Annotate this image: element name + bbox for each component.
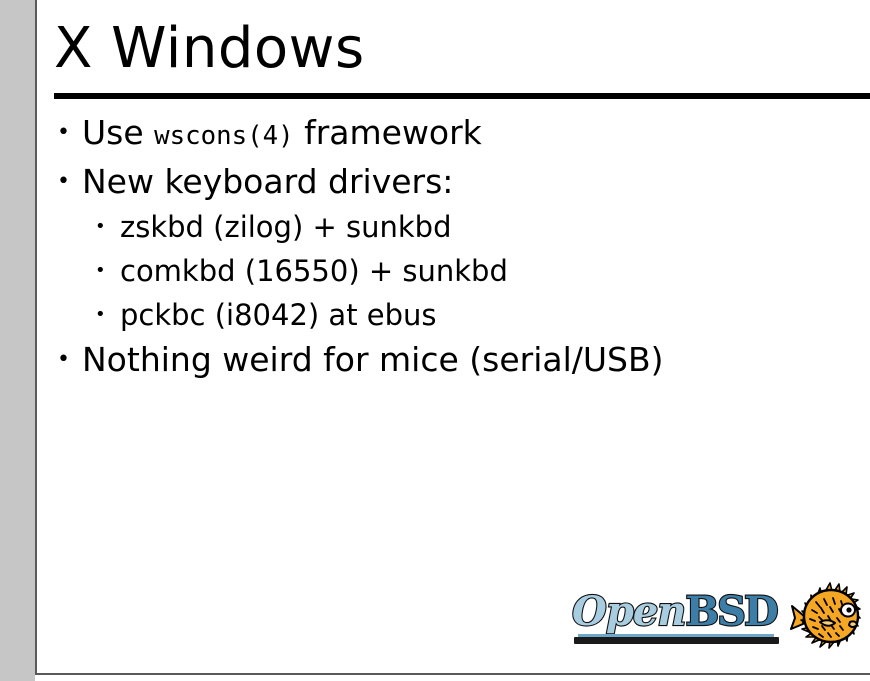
bullet-marker-icon: • bbox=[54, 159, 82, 205]
puffy-blowfish-icon bbox=[790, 578, 862, 656]
slide-bottom-divider bbox=[35, 673, 870, 675]
bullet-marker-icon: • bbox=[54, 110, 82, 156]
list-item-code: wscons(4) bbox=[154, 121, 293, 151]
list-item-text-pre: Use bbox=[82, 113, 154, 152]
list-item-label: Use wscons(4) framework bbox=[82, 110, 482, 159]
list-item-text-post: framework bbox=[294, 113, 482, 152]
wordmark-bsd-text: BSD bbox=[685, 588, 776, 635]
list-item-label: pckbc (i8042) at ebus bbox=[120, 293, 437, 337]
openbsd-wordmark: OpenBSD bbox=[572, 590, 787, 640]
wordmark-line: OpenBSD bbox=[572, 590, 777, 634]
list-item: • pckbc (i8042) at ebus bbox=[37, 293, 870, 337]
slide-left-gutter bbox=[0, 0, 35, 681]
list-item: • zskbd (zilog) + sunkbd bbox=[37, 205, 870, 249]
list-item-label: zskbd (zilog) + sunkbd bbox=[120, 205, 452, 249]
bullet-marker-icon: • bbox=[92, 249, 120, 293]
list-item-label: comkbd (16550) + sunkbd bbox=[120, 249, 508, 293]
slide-content-area: X Windows • Use wscons(4) framework • Ne… bbox=[37, 0, 870, 673]
title-underline-rule bbox=[54, 93, 870, 99]
presentation-slide: X Windows • Use wscons(4) framework • Ne… bbox=[0, 0, 870, 681]
list-item: • Nothing weird for mice (serial/USB) bbox=[37, 337, 870, 383]
list-item: • Use wscons(4) framework bbox=[37, 110, 870, 159]
bullet-list: • Use wscons(4) framework • New keyboard… bbox=[37, 110, 870, 383]
bullet-marker-icon: • bbox=[92, 205, 120, 249]
page-title: X Windows bbox=[54, 16, 365, 82]
openbsd-logo: OpenBSD bbox=[572, 578, 862, 656]
wordmark-underbar bbox=[574, 637, 779, 644]
bullet-marker-icon: • bbox=[92, 293, 120, 337]
list-item-label: New keyboard drivers: bbox=[82, 159, 453, 205]
list-item: • comkbd (16550) + sunkbd bbox=[37, 249, 870, 293]
list-item-label: Nothing weird for mice (serial/USB) bbox=[82, 337, 663, 383]
bullet-marker-icon: • bbox=[54, 337, 82, 383]
wordmark-open-text: Open bbox=[572, 588, 685, 635]
list-item: • New keyboard drivers: bbox=[37, 159, 870, 205]
